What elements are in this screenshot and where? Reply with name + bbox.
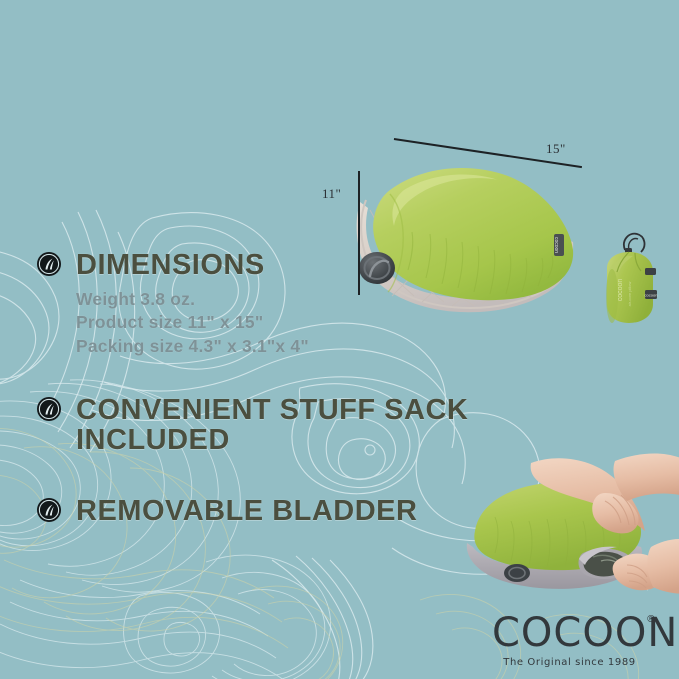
cocoon-feather-badge-icon	[36, 497, 62, 523]
feature-dimensions: DIMENSIONS Weight 3.8 oz. Product size 1…	[36, 251, 309, 358]
feature-title: DIMENSIONS	[76, 251, 309, 281]
feature-removable-bladder: REMOVABLE BLADDER	[36, 497, 417, 527]
svg-text:cocoon: cocoon	[645, 293, 658, 298]
logo-wordmark: cocoon ®	[492, 613, 647, 653]
svg-text:cocoon: cocoon	[553, 237, 559, 253]
subline-packing-size: Packing size 4.3" x 3.1"x 4"	[76, 335, 309, 358]
cocoon-feather-badge-icon	[36, 396, 62, 422]
feature-title: CONVENIENT STUFF SACK INCLUDED	[76, 396, 468, 456]
inflatable-travel-pillow-image: cocoon	[330, 150, 620, 325]
svg-text:air-core pillow: air-core pillow	[627, 282, 632, 307]
feature-stuff-sack: CONVENIENT STUFF SACK INCLUDED	[36, 396, 468, 456]
svg-text:cocoon: cocoon	[617, 279, 624, 302]
subline-product-size: Product size 11" x 15"	[76, 311, 309, 334]
hands-removing-bladder-image	[455, 435, 679, 610]
registered-trademark-symbol: ®	[646, 615, 656, 625]
logo-tagline: The Original since 1989	[492, 657, 647, 668]
product-feature-infographic: cocoon cocoon cocoon air-core pillow	[0, 0, 679, 679]
cocoon-feather-badge-icon	[36, 251, 62, 277]
height-dimension-label: 11"	[322, 186, 341, 202]
subline-weight: Weight 3.8 oz.	[76, 288, 309, 311]
height-dimension-line	[358, 171, 360, 295]
cocoon-logo: cocoon ® The Original since 1989	[492, 613, 647, 668]
feature-title: REMOVABLE BLADDER	[76, 497, 417, 527]
stuff-sack-image: cocoon cocoon air-core pillow	[595, 228, 661, 328]
feature-sublines: Weight 3.8 oz. Product size 11" x 15" Pa…	[76, 288, 309, 358]
width-dimension-label: 15"	[546, 141, 566, 157]
